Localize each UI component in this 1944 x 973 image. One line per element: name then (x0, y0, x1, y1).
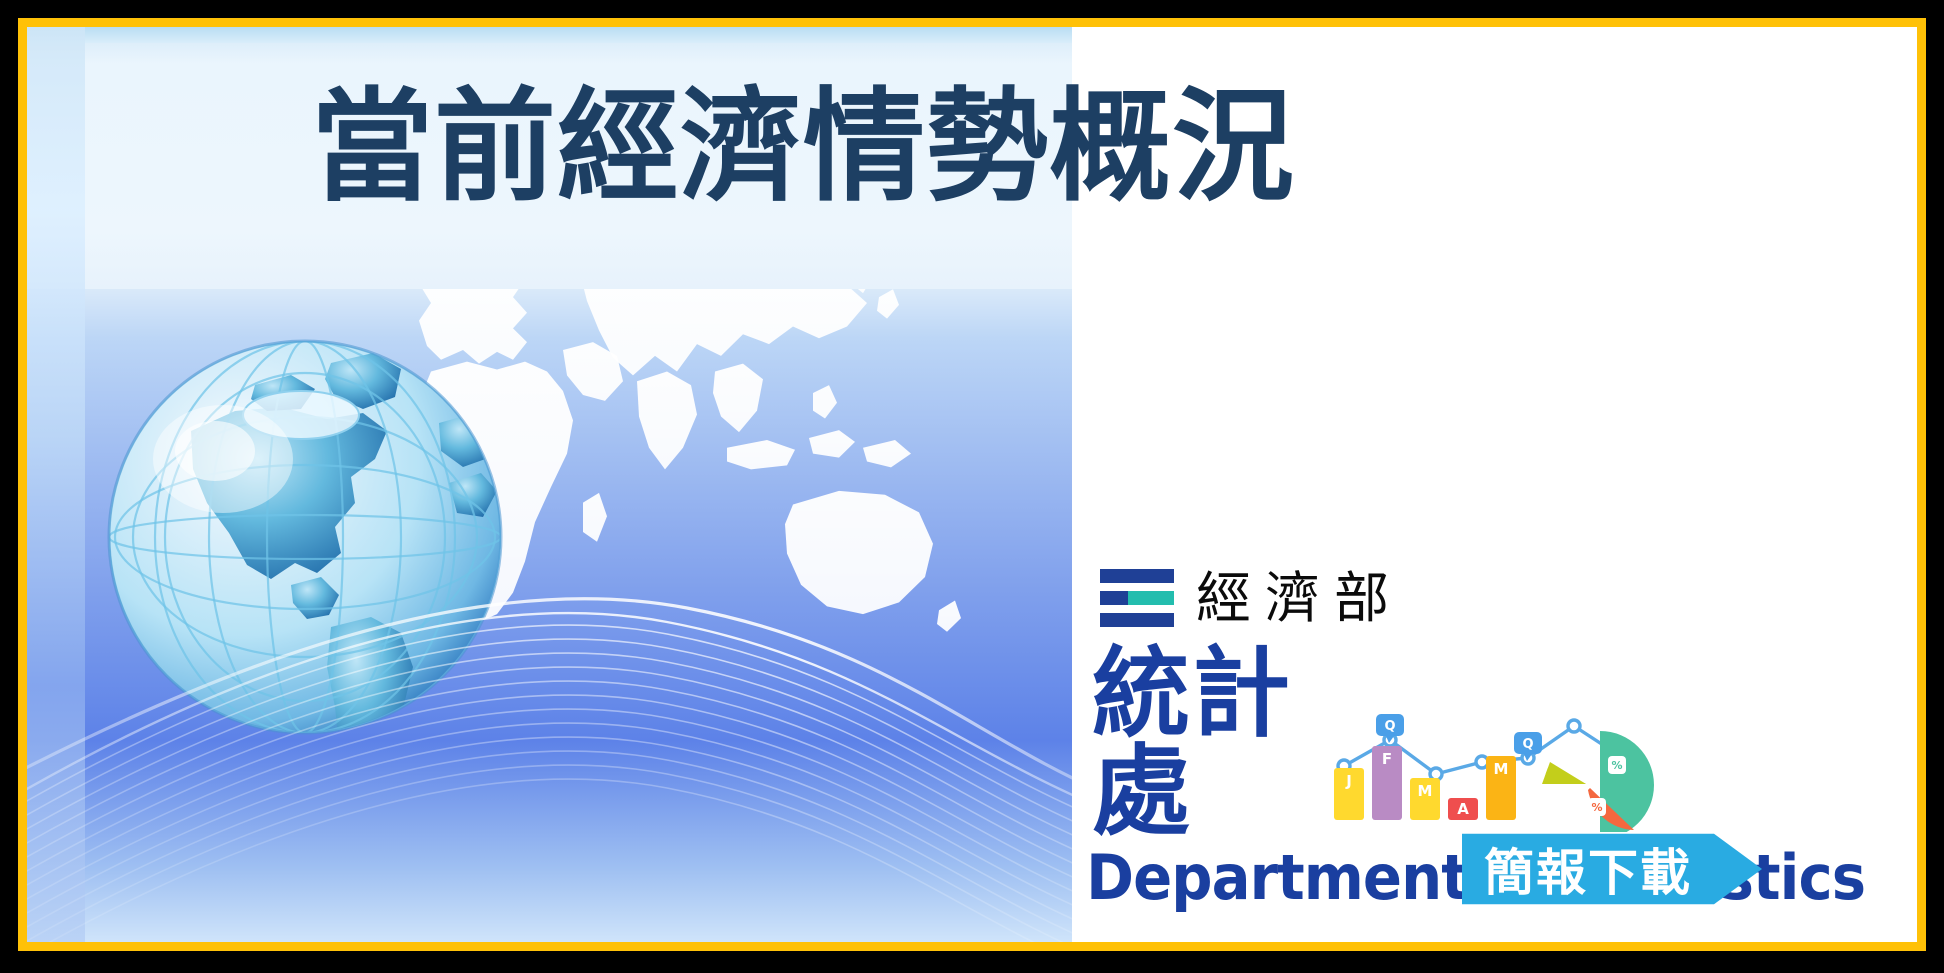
gold-frame: 經濟部 統計處 (18, 18, 1926, 951)
top-band-edge (27, 27, 1072, 43)
download-presentation-button[interactable]: 簡報下載 (1462, 827, 1762, 911)
department-row: 統計處 (1062, 645, 1662, 841)
svg-text:Q: Q (1522, 737, 1533, 752)
page-title: 當前經濟情勢概況 (311, 79, 1295, 216)
ministry-mark-icon (1100, 569, 1174, 627)
blue-wave-ribbon (27, 512, 1072, 942)
svg-text:M: M (1418, 782, 1433, 800)
mark-bar-top (1100, 569, 1174, 583)
svg-text:%: % (1611, 759, 1622, 772)
banner-root: 經濟部 統計處 (0, 0, 1944, 973)
svg-text:M: M (1494, 760, 1509, 778)
statistics-chart-icon: Q Q J F M (1332, 712, 1662, 837)
svg-text:%: % (1591, 801, 1602, 814)
ministry-row: 經濟部 (1062, 555, 1662, 641)
mark-bar-bottom (1100, 613, 1174, 627)
ministry-name: 經濟部 (1196, 571, 1403, 626)
svg-text:Q: Q (1384, 719, 1395, 734)
svg-text:J: J (1345, 772, 1352, 790)
svg-text:F: F (1382, 750, 1392, 768)
mark-bar-middle (1100, 591, 1174, 605)
svg-text:A: A (1457, 800, 1469, 818)
banner-body: 經濟部 統計處 (27, 27, 1917, 942)
download-button-label: 簡報下載 (1462, 827, 1714, 911)
department-name-cn: 統計處 (1092, 645, 1318, 841)
